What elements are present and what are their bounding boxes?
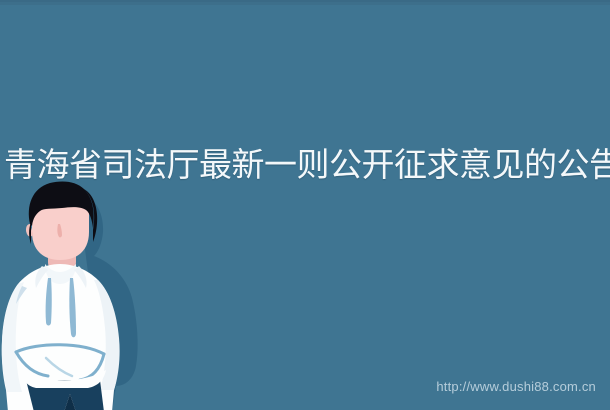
top-border-line — [0, 2, 610, 5]
person-illustration — [0, 180, 170, 410]
watermark-url: http://www.dushi88.com.cn — [436, 379, 596, 394]
page-title: 青海省司法厅最新一则公开征求意见的公告 — [4, 144, 610, 186]
screenshot-canvas: 青海省司法厅最新一则公开征求意见的公告 http://www.dushi88.c… — [0, 0, 610, 410]
